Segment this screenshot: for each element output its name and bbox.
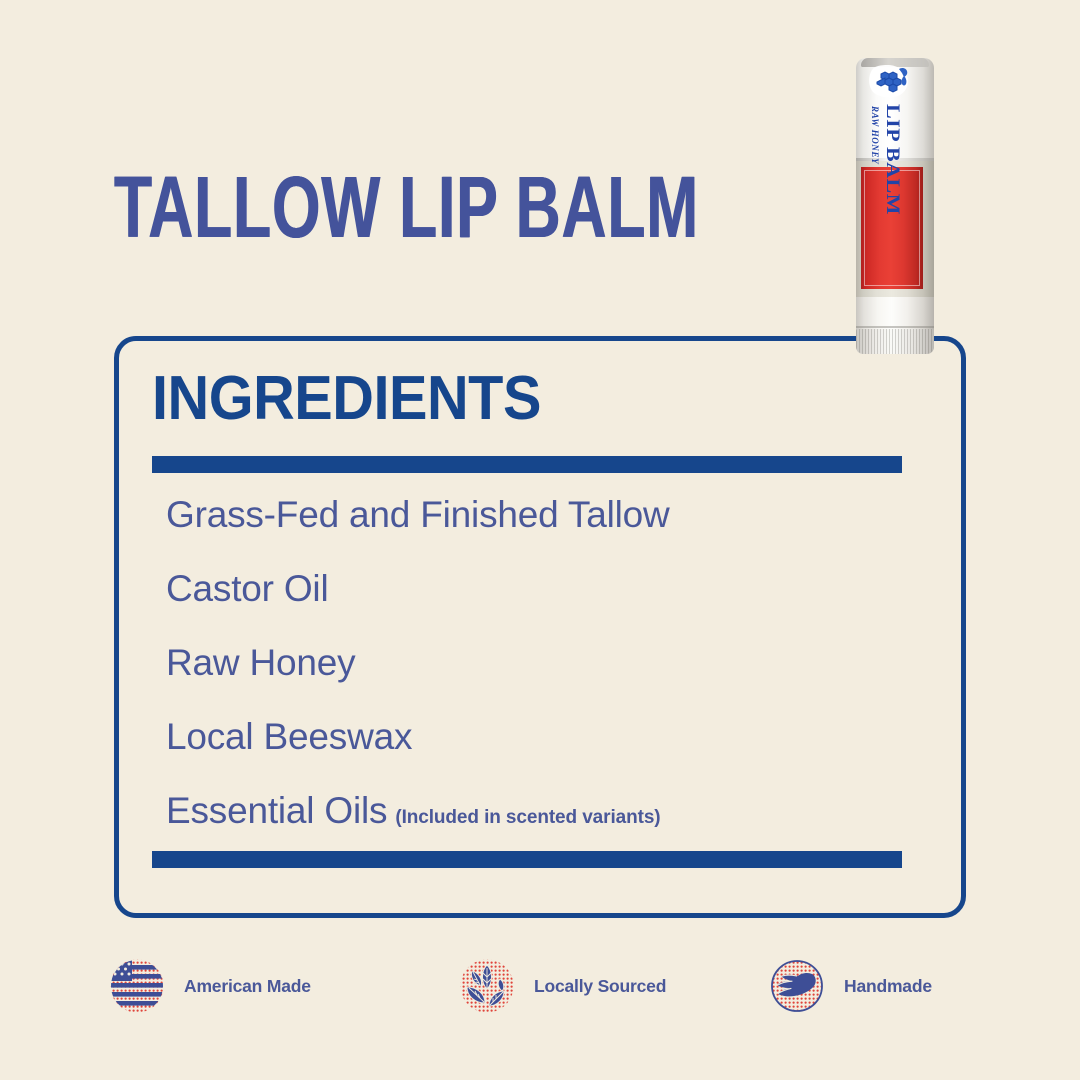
badge-locally-sourced: Locally Sourced [458, 944, 666, 1028]
honeycomb-icon [866, 60, 914, 100]
list-item: Local Beeswax [166, 718, 902, 755]
ingredients-list: Grass-Fed and Finished Tallow Castor Oil… [166, 496, 902, 836]
product-image-lip-balm-tube: LIP BALM RAW HONEY [856, 58, 934, 354]
feature-badges: American Made [0, 944, 1080, 1028]
hand-icon [768, 957, 826, 1015]
list-item: Essential Oils(Included in scented varia… [166, 792, 902, 836]
list-item: Castor Oil [166, 570, 902, 607]
list-item: Grass-Fed and Finished Tallow [166, 496, 902, 533]
tube-base-seam [856, 326, 934, 328]
ingredient-note: (Included in scented variants) [387, 807, 660, 828]
ingredient-name: Essential Oils [166, 790, 387, 831]
ingredient-name: Local Beeswax [166, 716, 412, 757]
ingredient-name: Raw Honey [166, 642, 355, 683]
tube-label-product-text: LIP BALM [882, 104, 904, 215]
ingredient-name: Castor Oil [166, 568, 328, 609]
divider-bar-bottom [152, 851, 902, 868]
badge-label: American Made [184, 976, 311, 997]
badge-label: Locally Sourced [534, 976, 666, 997]
tube-label-brand-text: RAW HONEY [870, 106, 880, 164]
ingredient-name: Grass-Fed and Finished Tallow [166, 494, 670, 535]
poster-canvas: TALLOW LIP BALM L [0, 0, 1080, 1080]
tube-base-ribbed [856, 329, 934, 354]
ingredients-heading: INGREDIENTS [152, 368, 541, 430]
page-title: TALLOW LIP BALM [114, 163, 699, 250]
badge-label: Handmade [844, 976, 932, 997]
badge-handmade: Handmade [768, 944, 932, 1028]
badge-american-made: American Made [108, 944, 311, 1028]
list-item: Raw Honey [166, 644, 902, 681]
leaves-icon [458, 957, 516, 1015]
ingredients-card-content: INGREDIENTS Grass-Fed and Finished Tallo… [152, 336, 902, 918]
american-flag-icon [108, 957, 166, 1015]
divider-bar-top [152, 456, 902, 473]
